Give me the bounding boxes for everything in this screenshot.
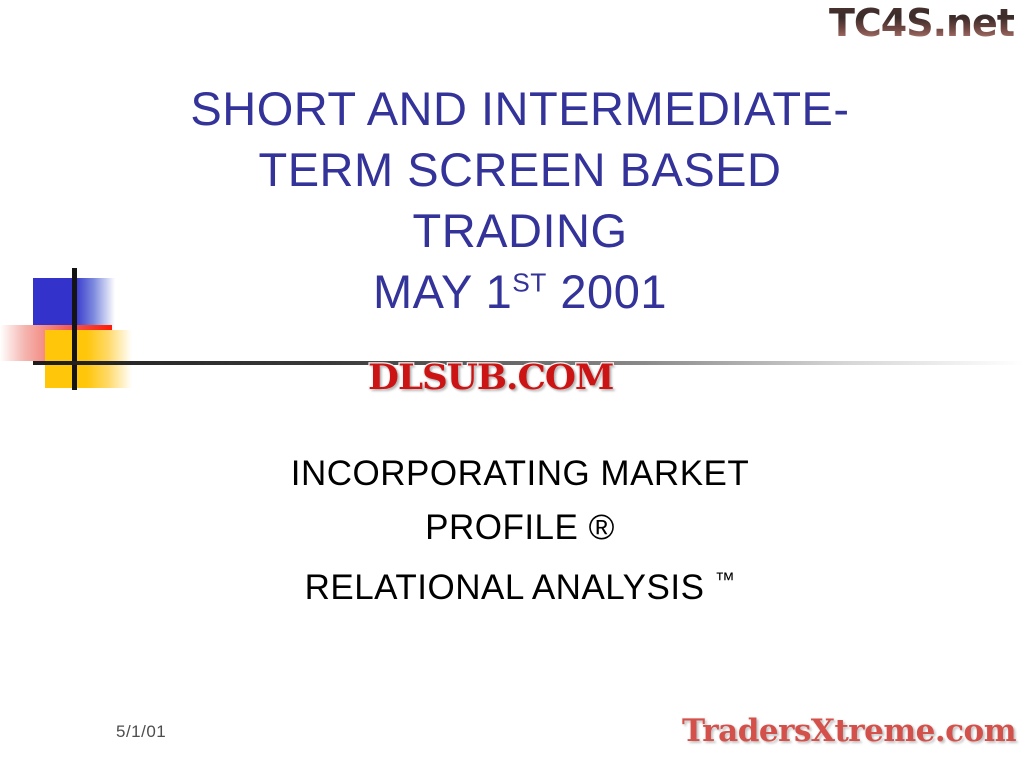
title-date-prefix: MAY 1 (373, 265, 512, 318)
body-line-2: PROFILE ® (150, 501, 890, 555)
title-line-1: SHORT AND INTERMEDIATE- (150, 78, 890, 139)
body-line-3-text: RELATIONAL ANALYSIS (305, 568, 715, 607)
page-title: SHORT AND INTERMEDIATE- TERM SCREEN BASE… (150, 78, 890, 322)
title-date-ordinal: ST (512, 267, 547, 297)
body-line-1: INCORPORATING MARKET (150, 447, 890, 501)
title-date-suffix: 2001 (547, 265, 667, 318)
title-date-line: MAY 1ST 2001 (150, 261, 890, 322)
registered-trademark-icon: ® (589, 508, 615, 547)
tradersxtreme-watermark: TradersXtreme.com (682, 716, 1016, 747)
slide-date-stamp: 5/1/01 (116, 722, 166, 742)
decorative-accent-graphic (0, 258, 260, 398)
yellow-square-shape (45, 330, 132, 388)
tc4s-brand-logo: TC4S.net (829, 4, 1014, 42)
title-line-3: TRADING (150, 200, 890, 261)
presentation-slide: TC4S.net TC4S.net SHORT AND INTERMEDIATE… (0, 0, 1024, 768)
body-line-2-text: PROFILE (425, 508, 588, 547)
vertical-rule-bar (72, 268, 77, 390)
trademark-icon: ™ (715, 569, 736, 591)
slide-body-text: INCORPORATING MARKET PROFILE ® RELATIONA… (150, 447, 890, 615)
title-line-2: TERM SCREEN BASED (150, 139, 890, 200)
body-line-3: RELATIONAL ANALYSIS ™ (150, 561, 890, 615)
dlsub-watermark: DLSUB.COM (368, 360, 613, 395)
